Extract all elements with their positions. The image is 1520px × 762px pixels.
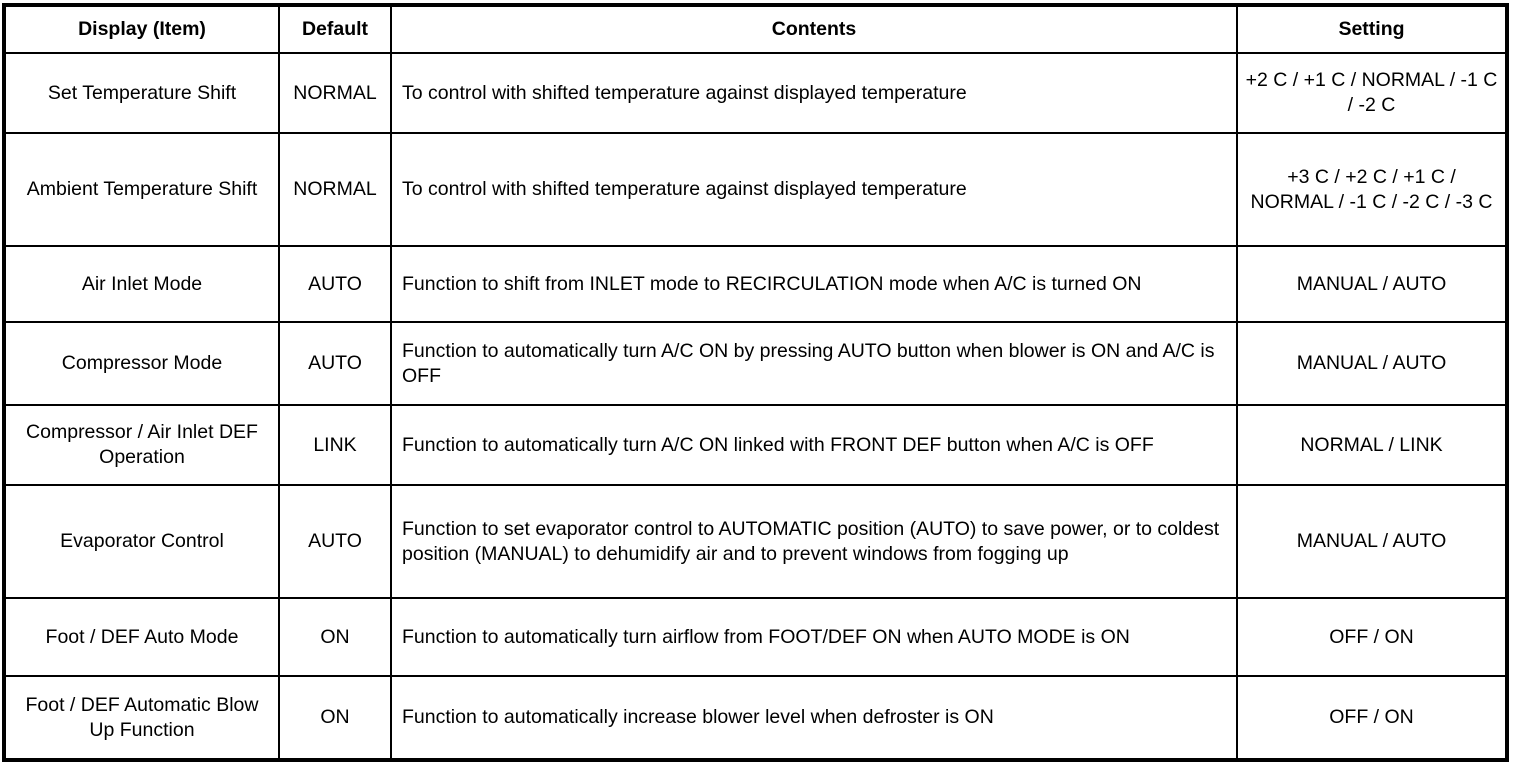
table-row: Compressor Mode AUTO Function to automat… [4,322,1507,405]
cell-contents: To control with shifted temperature agai… [391,133,1237,246]
table-row: Air Inlet Mode AUTO Function to shift fr… [4,246,1507,322]
column-header-display: Display (Item) [4,5,279,53]
cell-setting: MANUAL / AUTO [1237,322,1507,405]
cell-setting: OFF / ON [1237,598,1507,676]
cell-contents: Function to automatically increase blowe… [391,676,1237,760]
cell-contents: Function to automatically turn airflow f… [391,598,1237,676]
column-header-setting: Setting [1237,5,1507,53]
cell-display: Compressor Mode [4,322,279,405]
cell-default: LINK [279,405,391,485]
cell-setting: OFF / ON [1237,676,1507,760]
cell-default: AUTO [279,485,391,598]
cell-display: Compressor / Air Inlet DEF Operation [4,405,279,485]
table-row: Ambient Temperature Shift NORMAL To cont… [4,133,1507,246]
header-row: Display (Item) Default Contents Setting [4,5,1507,53]
cell-setting: +2 C / +1 C / NORMAL / -1 C / -2 C [1237,53,1507,133]
table-header: Display (Item) Default Contents Setting [4,5,1507,53]
page-root: Display (Item) Default Contents Setting … [0,0,1520,694]
column-header-default: Default [279,5,391,53]
cell-default: NORMAL [279,53,391,133]
settings-table: Display (Item) Default Contents Setting … [2,3,1509,762]
cell-display: Evaporator Control [4,485,279,598]
cell-display: Air Inlet Mode [4,246,279,322]
cell-display: Foot / DEF Auto Mode [4,598,279,676]
cell-setting: +3 C / +2 C / +1 C / NORMAL / -1 C / -2 … [1237,133,1507,246]
cell-default: AUTO [279,246,391,322]
cell-default: ON [279,676,391,760]
column-header-contents: Contents [391,5,1237,53]
cell-contents: Function to shift from INLET mode to REC… [391,246,1237,322]
cell-default: AUTO [279,322,391,405]
table-body: Set Temperature Shift NORMAL To control … [4,53,1507,760]
cell-display: Set Temperature Shift [4,53,279,133]
table-row: Foot / DEF Auto Mode ON Function to auto… [4,598,1507,676]
cell-setting: MANUAL / AUTO [1237,246,1507,322]
cell-display: Ambient Temperature Shift [4,133,279,246]
table-row: Compressor / Air Inlet DEF Operation LIN… [4,405,1507,485]
cell-display: Foot / DEF Automatic Blow Up Function [4,676,279,760]
cell-setting: MANUAL / AUTO [1237,485,1507,598]
cell-contents: Function to set evaporator control to AU… [391,485,1237,598]
table-row: Foot / DEF Automatic Blow Up Function ON… [4,676,1507,760]
table-row: Evaporator Control AUTO Function to set … [4,485,1507,598]
table-row: Set Temperature Shift NORMAL To control … [4,53,1507,133]
cell-contents: To control with shifted temperature agai… [391,53,1237,133]
cell-default: ON [279,598,391,676]
cell-contents: Function to automatically turn A/C ON li… [391,405,1237,485]
cell-setting: NORMAL / LINK [1237,405,1507,485]
cell-default: NORMAL [279,133,391,246]
cell-contents: Function to automatically turn A/C ON by… [391,322,1237,405]
